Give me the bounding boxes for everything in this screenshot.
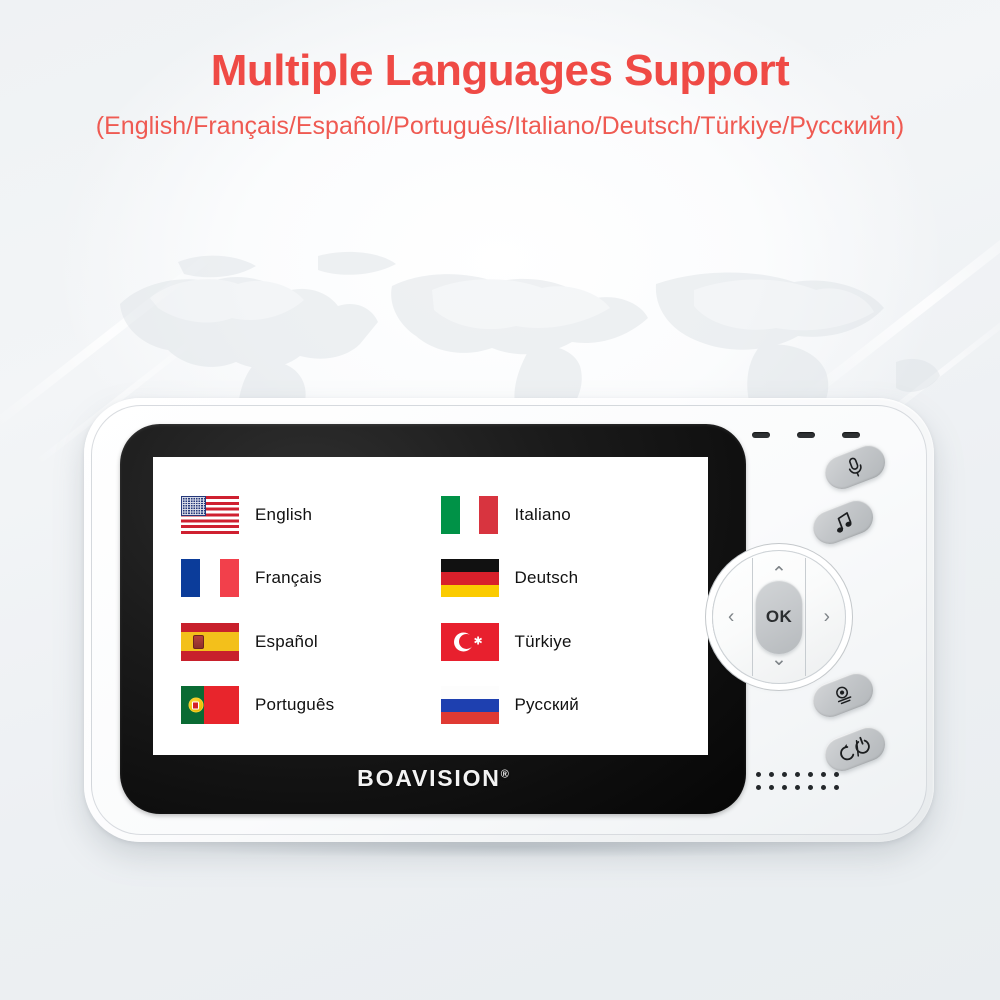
- lullaby-button[interactable]: [808, 495, 878, 549]
- page-root: Multiple Languages Support (English/Fran…: [0, 0, 1000, 1000]
- screen-bezel: English Italiano Français: [120, 424, 746, 814]
- speaker-grille: [756, 772, 847, 798]
- music-note-icon: [829, 509, 857, 536]
- speaker-hole: [795, 772, 800, 777]
- speaker-hole: [782, 772, 787, 777]
- dpad-left-button[interactable]: ‹: [728, 608, 734, 627]
- language-option-deutsch[interactable]: Deutsch: [441, 547, 689, 611]
- camera-lens-icon: [829, 682, 857, 709]
- flag-us-icon: [181, 496, 239, 534]
- language-option-russian[interactable]: Русский: [441, 674, 689, 738]
- dpad-seam: [805, 558, 806, 676]
- language-option-italiano[interactable]: Italiano: [441, 483, 689, 547]
- flag-de-icon: [441, 559, 499, 597]
- vent-slot: [797, 432, 815, 438]
- dpad-seam: [752, 558, 753, 676]
- dpad-right-button[interactable]: ›: [824, 608, 830, 627]
- language-option-francais[interactable]: Français: [181, 547, 429, 611]
- microphone-button[interactable]: [820, 440, 890, 494]
- speaker-hole: [756, 772, 761, 777]
- language-label: Türkiye: [515, 632, 572, 652]
- language-list: English Italiano Français: [153, 457, 708, 755]
- speaker-hole: [808, 772, 813, 777]
- language-label: Italiano: [515, 505, 571, 525]
- flag-it-icon: [441, 496, 499, 534]
- language-label: Français: [255, 568, 322, 588]
- speaker-hole: [795, 785, 800, 790]
- language-option-espanol[interactable]: Español: [181, 610, 429, 674]
- vox-button[interactable]: [808, 668, 878, 722]
- speaker-hole: [769, 772, 774, 777]
- speaker-hole: [834, 772, 839, 777]
- page-title: Multiple Languages Support: [0, 46, 1000, 96]
- language-option-english[interactable]: English: [181, 483, 429, 547]
- language-option-portugues[interactable]: Português: [181, 674, 429, 738]
- language-label: English: [255, 505, 312, 525]
- speaker-hole: [821, 785, 826, 790]
- speaker-hole: [821, 772, 826, 777]
- language-option-turkiye[interactable]: ✱ Türkiye: [441, 610, 689, 674]
- microphone-icon: [842, 453, 869, 481]
- ok-button[interactable]: OK: [756, 580, 803, 654]
- flag-ru-icon: [441, 686, 499, 724]
- trademark-symbol: ®: [501, 768, 509, 780]
- speaker-hole: [782, 785, 787, 790]
- baby-monitor-device: English Italiano Français: [84, 398, 934, 842]
- vent-slots: [752, 432, 860, 438]
- flag-pt-icon: [181, 686, 239, 724]
- language-label: Русский: [515, 695, 579, 715]
- power-return-button[interactable]: [820, 722, 890, 776]
- flag-es-icon: [181, 623, 239, 661]
- lcd-panel: English Italiano Français: [153, 457, 708, 755]
- language-label: Deutsch: [515, 568, 579, 588]
- page-subtitle: (English/Français/Español/Português/Ital…: [0, 112, 1000, 141]
- flag-fr-icon: [181, 559, 239, 597]
- direction-pad[interactable]: ⌃ ⌄ ‹ › OK: [712, 550, 846, 684]
- brand-logo: BOAVISION®: [120, 765, 746, 792]
- speaker-hole: [769, 785, 774, 790]
- brand-name: BOAVISION: [357, 765, 501, 791]
- speaker-hole: [834, 785, 839, 790]
- language-label: Español: [255, 632, 318, 652]
- vent-slot: [752, 432, 770, 438]
- vent-slot: [842, 432, 860, 438]
- power-return-icon: [836, 734, 875, 765]
- speaker-hole: [756, 785, 761, 790]
- speaker-hole: [808, 785, 813, 790]
- flag-tr-icon: ✱: [441, 623, 499, 661]
- language-label: Português: [255, 695, 334, 715]
